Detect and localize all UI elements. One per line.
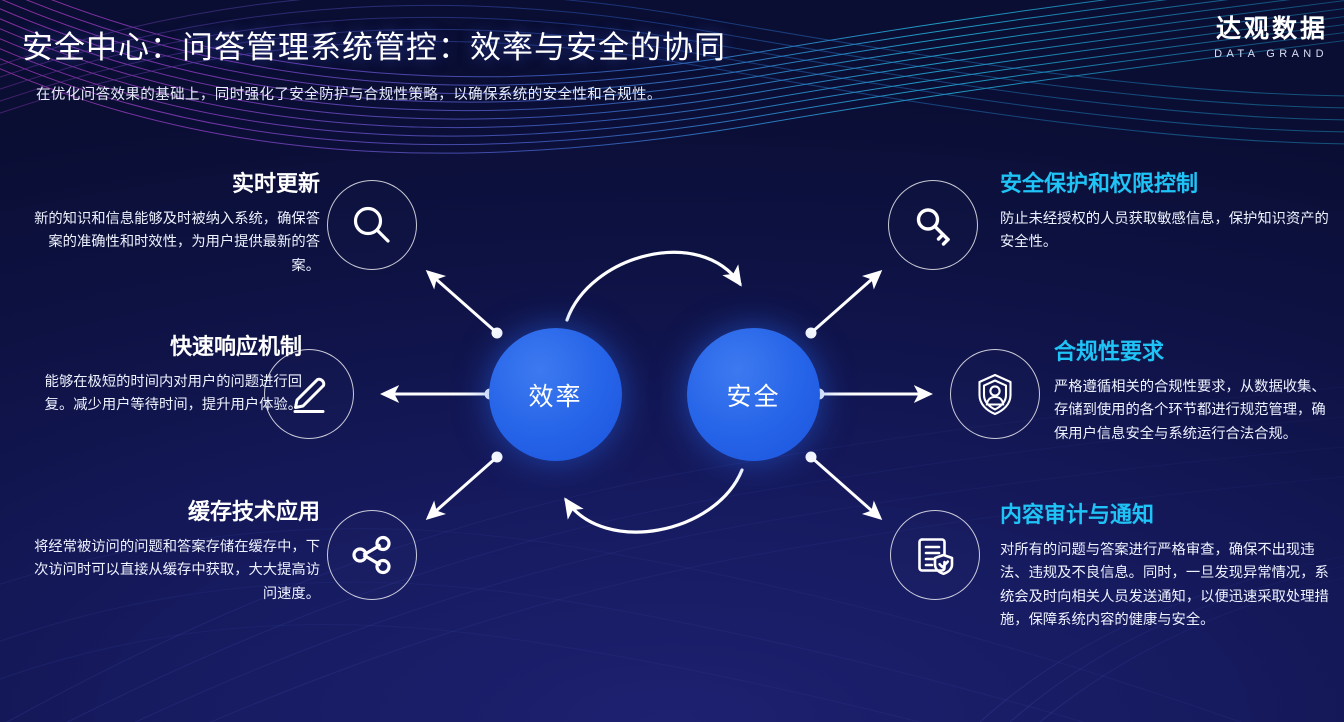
page-subtitle: 在优化问答效果的基础上，同时强化了安全防护与合规性策略，以确保系统的安全性和合规…	[36, 83, 662, 104]
feature-compliance-body: 严格遵循相关的合规性要求，从数据收集、存储到使用的各个环节都进行规范管理，确保用…	[1054, 376, 1334, 445]
feature-fast-response[interactable]: 快速响应机制 能够在极短的时间内对用户的问题进行回复。减少用户等待时间，提升用户…	[20, 335, 302, 418]
feature-realtime-update[interactable]: 实时更新 新的知识和信息能够及时被纳入系统，确保答案的准确性和时效性，为用户提供…	[20, 172, 320, 278]
shield-person-icon[interactable]	[950, 349, 1040, 439]
magnifier-icon[interactable]	[327, 180, 417, 270]
feature-cache-technology-heading: 缓存技术应用	[20, 500, 320, 524]
feature-realtime-update-body: 新的知识和信息能够及时被纳入系统，确保答案的准确性和时效性，为用户提供最新的答案…	[20, 208, 320, 277]
logo-chinese-text: 达观数据	[1214, 16, 1328, 44]
feature-compliance[interactable]: 合规性要求 严格遵循相关的合规性要求，从数据收集、存储到使用的各个环节都进行规范…	[1054, 340, 1334, 446]
core-node-security-label: 安全	[726, 377, 780, 413]
feature-cache-technology-body: 将经常被访问的问题和答案存储在缓存中，下次访问时可以直接从缓存中获取，大大提高访…	[20, 536, 320, 605]
feature-access-control-body: 防止未经授权的人员获取敏感信息，保护知识资产的安全性。	[1000, 208, 1330, 254]
pencil-edit-icon[interactable]	[264, 349, 354, 439]
feature-content-audit-body: 对所有的问题与答案进行严格审查，确保不出现违法、违规及不良信息。同时，一旦发现异…	[1000, 539, 1332, 632]
core-node-efficiency[interactable]: 效率	[489, 328, 622, 461]
logo-english-text: DATA GRAND	[1214, 48, 1328, 60]
slide-canvas: 安全中心：问答管理系统管控：效率与安全的协同 在优化问答效果的基础上，同时强化了…	[0, 0, 1344, 722]
slide-header: 安全中心：问答管理系统管控：效率与安全的协同 在优化问答效果的基础上，同时强化了…	[0, 0, 1344, 130]
feature-access-control-heading: 安全保护和权限控制	[1000, 172, 1330, 196]
feature-fast-response-heading: 快速响应机制	[20, 335, 302, 359]
core-node-efficiency-label: 效率	[528, 377, 582, 413]
share-nodes-icon[interactable]	[327, 510, 417, 600]
document-shield-check-icon[interactable]	[890, 510, 980, 600]
feature-fast-response-body: 能够在极短的时间内对用户的问题进行回复。减少用户等待时间，提升用户体验。	[20, 371, 302, 417]
feature-content-audit[interactable]: 内容审计与通知 对所有的问题与答案进行严格审查，确保不出现违法、违规及不良信息。…	[1000, 503, 1332, 632]
feature-access-control[interactable]: 安全保护和权限控制 防止未经授权的人员获取敏感信息，保护知识资产的安全性。	[1000, 172, 1330, 255]
page-title: 安全中心：问答管理系统管控：效率与安全的协同	[22, 22, 726, 67]
feature-realtime-update-heading: 实时更新	[20, 172, 320, 196]
brand-logo: 达观数据 DATA GRAND	[1214, 16, 1328, 60]
feature-compliance-heading: 合规性要求	[1054, 340, 1334, 364]
key-icon[interactable]	[888, 180, 978, 270]
feature-cache-technology[interactable]: 缓存技术应用 将经常被访问的问题和答案存储在缓存中，下次访问时可以直接从缓存中获…	[20, 500, 320, 606]
core-node-security[interactable]: 安全	[687, 328, 820, 461]
feature-content-audit-heading: 内容审计与通知	[1000, 503, 1332, 527]
